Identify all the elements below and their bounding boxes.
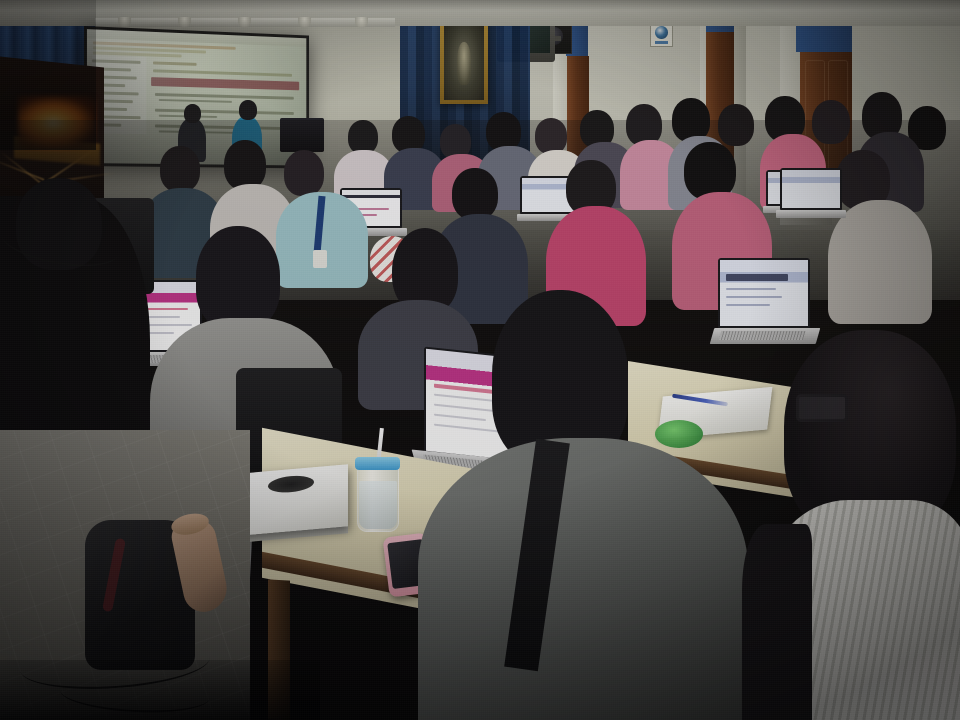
laptop-base[interactable] [776,210,846,218]
cup-lid [355,457,400,470]
sidebar-line [92,59,141,63]
screen-line [726,288,776,290]
eyeglasses-icon [796,394,848,422]
portrait-canvas [444,26,484,100]
audience-head [348,120,378,154]
laptop-screen [720,260,808,326]
laptop-screen [782,170,840,208]
audience-head [160,146,200,192]
screen-line [434,424,504,433]
emblem-tab [655,41,668,44]
page-subnav [153,69,292,76]
cup-water [359,481,397,529]
audience-head [452,168,498,220]
table-row [155,109,294,115]
framed-royal-portrait [440,22,488,104]
audience-head [812,100,850,144]
screen-line [726,304,770,306]
audience-head [196,226,280,330]
audience-head [486,112,521,151]
screen-line [726,274,788,281]
audience-head [718,104,754,146]
presenter-right-head [239,100,257,120]
audience-head [535,118,567,154]
tissue-box-opening [268,474,314,494]
screen-line [434,414,486,421]
laptop-lid [780,168,842,210]
emblem-disc [655,26,668,39]
id-badge [313,250,327,268]
portrait-figure [457,42,471,85]
table-row [155,93,294,99]
laptop-keyboard[interactable] [719,331,806,340]
backpack-strap [102,538,126,613]
person-shoulder-shadow [742,524,812,720]
photograph-seminar-hall: Computer training seminar in an auditori… [0,0,960,720]
audience-body [828,200,932,324]
table-cell [159,99,232,103]
screen-line [726,296,782,298]
audience-head [224,140,266,190]
tissue-box[interactable] [238,464,348,536]
page-heading [153,61,197,65]
green-bottle-cap[interactable] [655,420,703,448]
table-header-row [151,77,299,90]
bottom-shadow [0,660,320,720]
plastic-cup-with-straw[interactable] [357,462,399,532]
laptop-lid [718,258,810,328]
laptop-base[interactable] [710,328,821,344]
person-gray-tshirt [418,438,748,720]
screen-line [434,394,494,402]
audience-head [284,150,324,196]
